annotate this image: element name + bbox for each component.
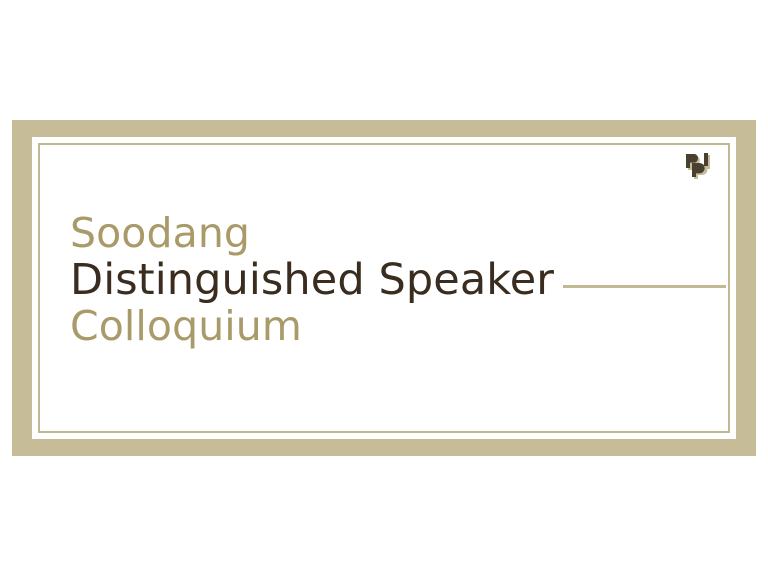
slide-content-area: Soodang Distinguished Speaker Colloquium [40, 145, 728, 431]
slide-canvas: Soodang Distinguished Speaker Colloquium [0, 0, 768, 576]
decorative-frame-white-gap: Soodang Distinguished Speaker Colloquium [32, 137, 736, 439]
decorative-frame-outer-band: Soodang Distinguished Speaker Colloquium [12, 120, 756, 456]
decorative-frame-hairline: Soodang Distinguished Speaker Colloquium [38, 143, 730, 433]
title-block: Soodang Distinguished Speaker Colloquium [70, 213, 710, 347]
title-line-soodang: Soodang [70, 213, 710, 254]
pdi-monogram-logo [682, 151, 716, 185]
title-line-distinguished-speaker: Distinguished Speaker [70, 259, 710, 302]
decorative-horizontal-rule [563, 285, 726, 288]
pdi-monogram-icon [682, 151, 716, 185]
title-line-colloquium: Colloquium [70, 306, 710, 347]
